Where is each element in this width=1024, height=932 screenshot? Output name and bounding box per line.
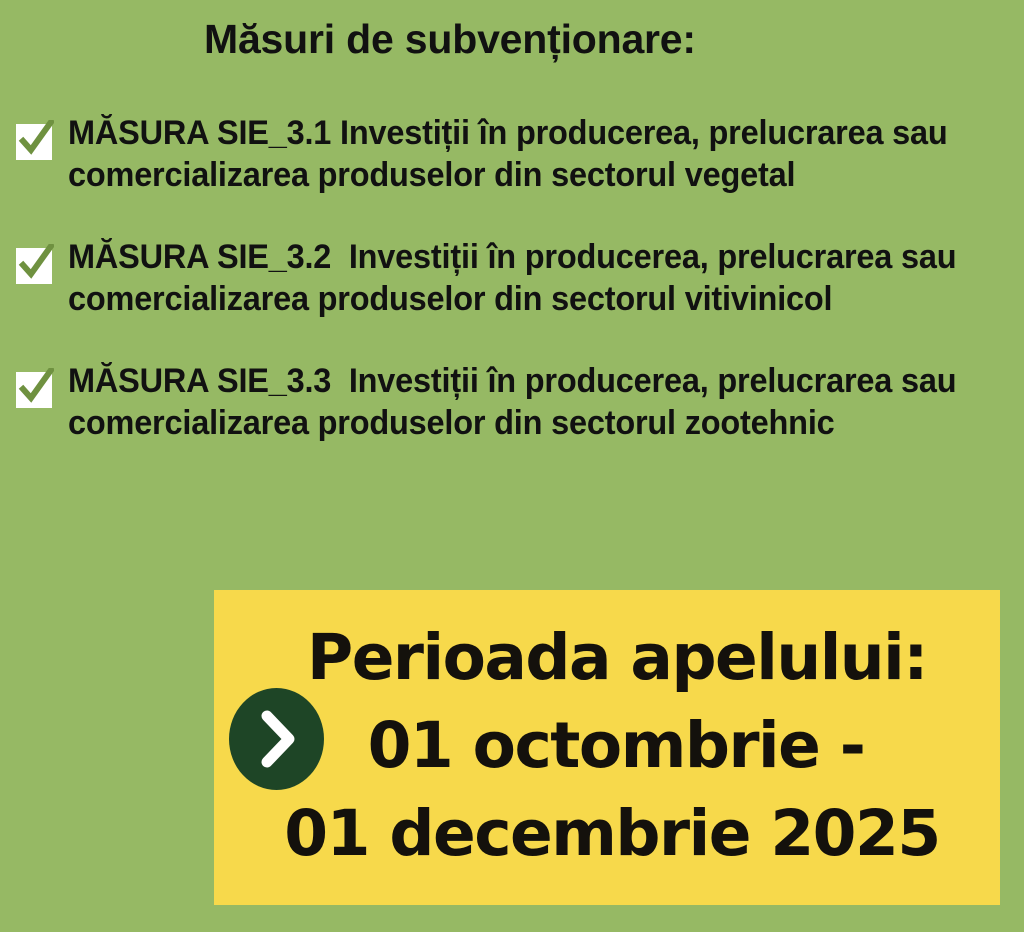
call-period-line-1: Perioada apelului: [214,614,1000,702]
measure-text: MĂSURA SIE_3.2 Investiții în producerea,… [68,236,966,320]
call-period-text: Perioada apelului: 01 octombrie - 01 dec… [214,614,1000,878]
list-item[interactable]: MĂSURA SIE_3.2 Investiții în producerea,… [0,236,1024,320]
measure-text: MĂSURA SIE_3.1 Investiții în producerea,… [68,112,1013,196]
call-period-line-3: 01 decembrie 2025 [214,790,1000,878]
checkmark-icon [16,372,52,408]
subsidy-measures-poster: Măsuri de subvenționare: MĂSURA SIE_3.1 … [0,0,1024,932]
checkmark-icon [16,248,52,284]
page-title: Măsuri de subvenționare: [204,14,696,64]
list-item[interactable]: MĂSURA SIE_3.3 Investiții în producerea,… [0,360,1024,444]
measures-list: MĂSURA SIE_3.1 Investiții în producerea,… [0,112,1024,444]
checkmark-icon [16,124,52,160]
call-period-line-2: 01 octombrie - [214,702,1000,790]
call-period-banner: Perioada apelului: 01 octombrie - 01 dec… [214,590,1000,905]
measure-text: MĂSURA SIE_3.3 Investiții în producerea,… [68,360,966,444]
list-item[interactable]: MĂSURA SIE_3.1 Investiții în producerea,… [0,112,1024,196]
